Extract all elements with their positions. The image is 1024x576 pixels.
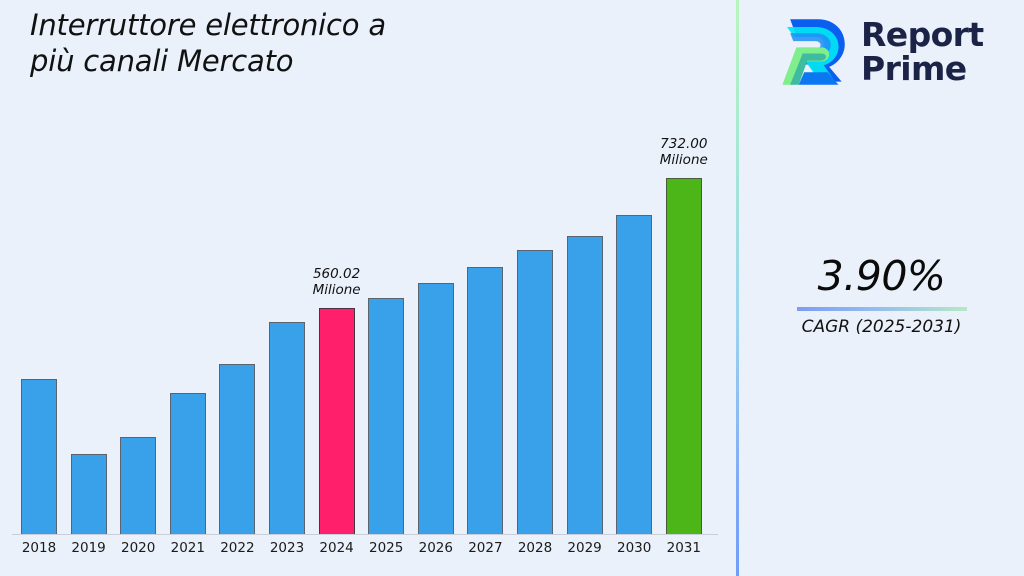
bar-2031 — [666, 178, 702, 534]
bar-2026 — [418, 283, 454, 534]
brand-name-line2: Prime — [861, 49, 967, 88]
bar-2030 — [616, 215, 652, 534]
cagr-caption: CAGR (2025-2031) — [739, 317, 1024, 337]
bar-2024 — [319, 308, 355, 534]
bar-2018 — [21, 379, 57, 534]
brand-logo-text: Report Prime — [861, 18, 984, 85]
x-axis-label-2031: 2031 — [654, 540, 714, 556]
bar-2028 — [517, 250, 553, 534]
bar-2020 — [120, 437, 156, 534]
bar-2029 — [567, 236, 603, 534]
bar-2027 — [467, 267, 503, 534]
cagr-block: 3.90% CAGR (2025-2031) — [739, 252, 1024, 337]
bar-2022 — [219, 364, 255, 534]
x-axis-baseline — [12, 534, 718, 535]
report-prime-logo-icon — [773, 12, 851, 92]
cagr-value: 3.90% — [739, 252, 1024, 300]
bar-value-label-2031: 732.00 Milione — [639, 136, 729, 169]
bar-2025 — [368, 298, 404, 534]
cagr-divider-rule — [797, 307, 967, 311]
infographic-canvas: Interruttore elettronico a più canali Me… — [0, 0, 1024, 576]
bar-2023 — [269, 322, 305, 534]
bar-2019 — [71, 454, 107, 534]
chart-panel: Interruttore elettronico a più canali Me… — [0, 0, 737, 576]
bar-chart-plot-area: 201820192020202120222023560.02 Milione20… — [0, 0, 737, 576]
bar-value-label-2024: 560.02 Milione — [292, 266, 382, 299]
bar-2021 — [170, 393, 206, 534]
brand-logo: Report Prime — [773, 12, 984, 92]
side-panel: Report Prime 3.90% CAGR (2025-2031) — [739, 0, 1024, 576]
